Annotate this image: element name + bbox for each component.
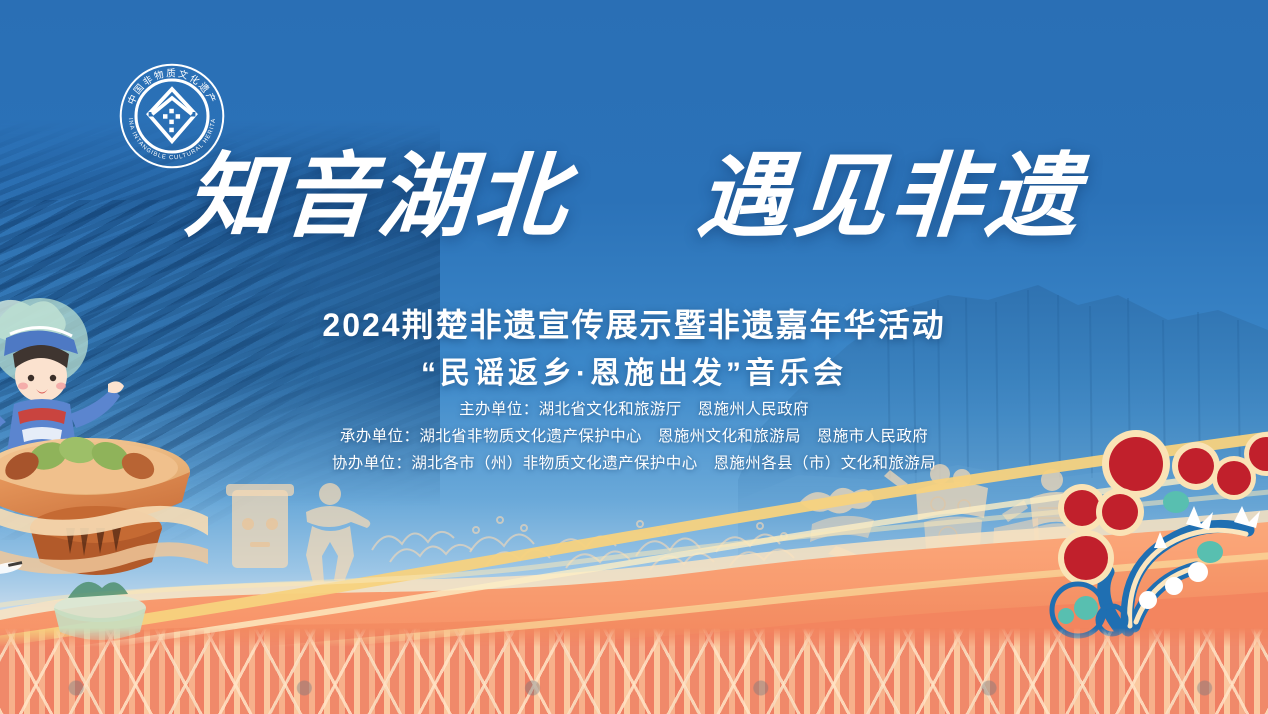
tujia-girl-and-food-illustration	[0, 290, 208, 650]
headline-left: 知音湖北	[182, 142, 574, 250]
red-pom-poms	[1058, 430, 1268, 586]
poster-canvas: 中国非物质文化遗产 CHINA INTANGIBLE CULTURAL HERI…	[0, 0, 1268, 714]
page-title: 知音湖北 遇见非遗	[0, 148, 1268, 245]
white-pearls	[1139, 562, 1208, 609]
brocade-center-motifs	[0, 652, 1268, 712]
headline-right: 遇见非遗	[694, 142, 1086, 250]
